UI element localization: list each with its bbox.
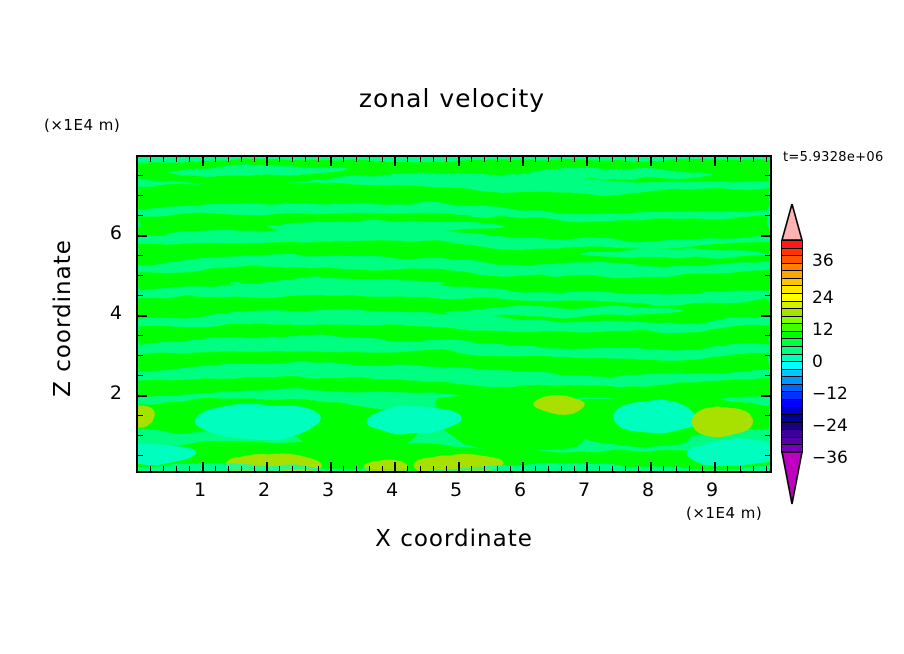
colorbar-tick-label: 24 xyxy=(812,288,834,308)
colorbar-top-arrow xyxy=(781,204,803,241)
x-minor-tick-top xyxy=(420,157,421,162)
x-minor-tick-top xyxy=(228,157,229,162)
x-minor-tick-top xyxy=(279,157,280,162)
contour-field xyxy=(138,157,770,471)
x-minor-tick-top xyxy=(484,157,485,162)
x-major-tick xyxy=(458,462,460,471)
x-minor-tick-top xyxy=(318,157,319,162)
x-minor-tick xyxy=(702,466,703,471)
x-major-tick xyxy=(522,462,524,471)
x-minor-tick-top xyxy=(215,157,216,162)
y-minor-tick-right xyxy=(765,335,770,336)
x-minor-tick xyxy=(433,466,434,471)
x-major-tick xyxy=(202,462,204,471)
x-minor-tick xyxy=(305,466,306,471)
y-minor-tick xyxy=(138,215,143,216)
x-major-tick xyxy=(330,462,332,471)
x-minor-tick xyxy=(189,466,190,471)
x-minor-tick-top xyxy=(535,157,536,162)
x-minor-tick xyxy=(510,466,511,471)
y-minor-tick xyxy=(138,295,143,296)
y-minor-tick-right xyxy=(765,195,770,196)
x-minor-tick xyxy=(753,466,754,471)
x-minor-tick-top xyxy=(625,157,626,162)
x-tick-label: 5 xyxy=(450,479,462,501)
y-major-tick-right xyxy=(761,235,770,237)
x-minor-tick-top xyxy=(254,157,255,162)
x-minor-tick-top xyxy=(638,157,639,162)
x-minor-tick xyxy=(484,466,485,471)
x-minor-tick xyxy=(241,466,242,471)
y-axis-title: Z coordinate xyxy=(50,238,76,398)
x-minor-tick xyxy=(163,466,164,471)
y-tick-label: 6 xyxy=(96,222,122,244)
x-minor-tick xyxy=(740,466,741,471)
x-minor-tick-top xyxy=(163,157,164,162)
y-minor-tick xyxy=(138,255,143,256)
x-minor-tick xyxy=(612,466,613,471)
colorbar xyxy=(781,240,803,452)
x-major-tick-top xyxy=(458,157,460,166)
x-major-tick xyxy=(650,462,652,471)
x-minor-tick-top xyxy=(150,157,151,162)
y-minor-tick xyxy=(138,455,143,456)
colorbar-tick-label: −12 xyxy=(812,384,848,404)
x-minor-tick-top xyxy=(574,157,575,162)
y-minor-tick-right xyxy=(765,295,770,296)
x-minor-tick-top xyxy=(548,157,549,162)
x-minor-tick-top xyxy=(676,157,677,162)
x-minor-tick-top xyxy=(702,157,703,162)
y-minor-tick xyxy=(138,355,143,356)
x-tick-label: 1 xyxy=(194,479,206,501)
x-minor-tick xyxy=(420,466,421,471)
x-major-tick-top xyxy=(714,157,716,166)
x-tick-label: 8 xyxy=(642,479,654,501)
contour-plot-area xyxy=(136,155,772,473)
y-minor-tick-right xyxy=(765,415,770,416)
plot-title: zonal velocity xyxy=(0,84,904,113)
x-minor-tick-top xyxy=(612,157,613,162)
x-minor-tick xyxy=(561,466,562,471)
x-minor-tick-top xyxy=(241,157,242,162)
x-tick-label: 9 xyxy=(706,479,718,501)
x-minor-tick xyxy=(676,466,677,471)
x-major-tick xyxy=(586,462,588,471)
x-major-tick xyxy=(394,462,396,471)
y-minor-tick-right xyxy=(765,435,770,436)
x-minor-tick-top xyxy=(766,157,767,162)
x-minor-tick xyxy=(407,466,408,471)
x-major-tick-top xyxy=(394,157,396,166)
y-minor-tick xyxy=(138,435,143,436)
y-minor-tick-right xyxy=(765,215,770,216)
x-minor-tick xyxy=(279,466,280,471)
x-minor-tick xyxy=(574,466,575,471)
y-major-tick-right xyxy=(761,395,770,397)
x-minor-tick-top xyxy=(369,157,370,162)
x-minor-tick-top xyxy=(189,157,190,162)
x-minor-tick xyxy=(318,466,319,471)
x-major-tick xyxy=(714,462,716,471)
x-major-tick-top xyxy=(266,157,268,166)
x-tick-label: 6 xyxy=(514,479,526,501)
x-minor-tick-top xyxy=(599,157,600,162)
x-minor-tick-top xyxy=(663,157,664,162)
x-minor-tick xyxy=(292,466,293,471)
x-minor-tick-top xyxy=(356,157,357,162)
colorbar-tick-label: −36 xyxy=(812,448,848,468)
x-axis-unit-label: (×1E4 m) xyxy=(686,504,762,522)
y-minor-tick-right xyxy=(765,355,770,356)
y-minor-tick xyxy=(138,195,143,196)
x-minor-tick-top xyxy=(727,157,728,162)
x-minor-tick-top xyxy=(510,157,511,162)
x-major-tick-top xyxy=(202,157,204,166)
y-minor-tick xyxy=(138,175,143,176)
x-tick-label: 4 xyxy=(386,479,398,501)
y-minor-tick-right xyxy=(765,455,770,456)
x-minor-tick xyxy=(727,466,728,471)
x-minor-tick-top xyxy=(471,157,472,162)
x-major-tick-top xyxy=(522,157,524,166)
colorbar-tick-label: −24 xyxy=(812,416,848,436)
x-minor-tick-top xyxy=(176,157,177,162)
figure-canvas: zonal velocity (×1E4 m) (×1E4 m) t=5.932… xyxy=(0,0,904,654)
y-minor-tick xyxy=(138,375,143,376)
colorbar-tick-label: 12 xyxy=(812,320,834,340)
y-major-tick xyxy=(138,235,147,237)
x-minor-tick xyxy=(215,466,216,471)
y-major-tick-right xyxy=(761,315,770,317)
x-minor-tick xyxy=(343,466,344,471)
x-minor-tick xyxy=(497,466,498,471)
x-minor-tick xyxy=(471,466,472,471)
x-major-tick xyxy=(266,462,268,471)
x-minor-tick xyxy=(689,466,690,471)
x-minor-tick xyxy=(663,466,664,471)
y-minor-tick xyxy=(138,275,143,276)
x-minor-tick xyxy=(446,466,447,471)
x-minor-tick-top xyxy=(446,157,447,162)
x-minor-tick xyxy=(356,466,357,471)
x-tick-label: 3 xyxy=(322,479,334,501)
y-minor-tick-right xyxy=(765,375,770,376)
x-minor-tick xyxy=(369,466,370,471)
x-minor-tick xyxy=(254,466,255,471)
y-minor-tick xyxy=(138,335,143,336)
x-minor-tick-top xyxy=(689,157,690,162)
x-minor-tick xyxy=(382,466,383,471)
y-major-tick xyxy=(138,315,147,317)
x-minor-tick-top xyxy=(343,157,344,162)
x-major-tick-top xyxy=(650,157,652,166)
x-minor-tick-top xyxy=(753,157,754,162)
x-minor-tick xyxy=(176,466,177,471)
y-axis-unit-label: (×1E4 m) xyxy=(44,116,120,134)
y-minor-tick-right xyxy=(765,255,770,256)
y-minor-tick-right xyxy=(765,175,770,176)
x-minor-tick-top xyxy=(407,157,408,162)
timestamp-annotation: t=5.9328e+06 xyxy=(783,150,884,165)
colorbar-tick-label: 36 xyxy=(812,251,834,271)
x-minor-tick-top xyxy=(497,157,498,162)
x-major-tick-top xyxy=(330,157,332,166)
x-minor-tick xyxy=(766,466,767,471)
x-minor-tick-top xyxy=(292,157,293,162)
x-minor-tick-top xyxy=(561,157,562,162)
x-axis-title: X coordinate xyxy=(136,526,772,552)
colorbar-bottom-arrow xyxy=(781,451,803,505)
x-minor-tick xyxy=(548,466,549,471)
y-minor-tick-right xyxy=(765,275,770,276)
x-minor-tick xyxy=(625,466,626,471)
x-minor-tick xyxy=(535,466,536,471)
y-minor-tick xyxy=(138,415,143,416)
x-tick-label: 7 xyxy=(578,479,590,501)
x-minor-tick-top xyxy=(305,157,306,162)
y-tick-label: 4 xyxy=(96,302,122,324)
x-minor-tick xyxy=(150,466,151,471)
y-major-tick xyxy=(138,395,147,397)
x-tick-label: 2 xyxy=(258,479,270,501)
x-minor-tick-top xyxy=(433,157,434,162)
x-major-tick-top xyxy=(586,157,588,166)
x-minor-tick-top xyxy=(382,157,383,162)
x-minor-tick-top xyxy=(740,157,741,162)
colorbar-tick-label: 0 xyxy=(812,352,823,372)
y-tick-label: 2 xyxy=(96,382,122,404)
x-minor-tick xyxy=(228,466,229,471)
x-minor-tick xyxy=(599,466,600,471)
x-minor-tick xyxy=(638,466,639,471)
